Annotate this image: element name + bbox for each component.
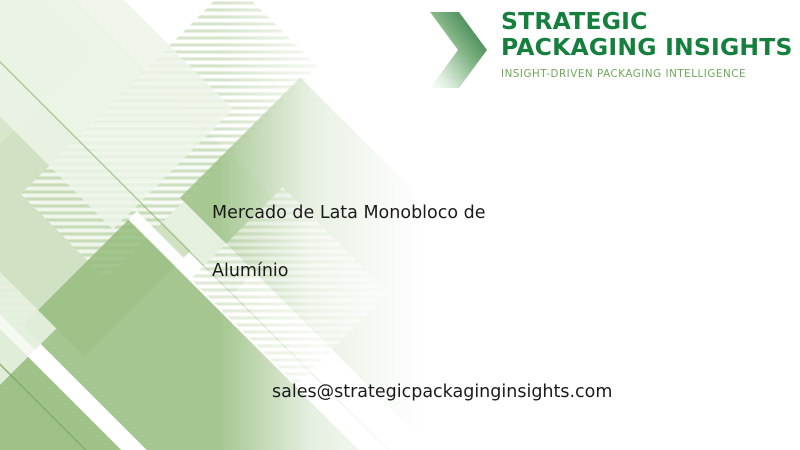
page-title-line-1: Mercado de Lata Monobloco de xyxy=(212,184,632,242)
logo-tagline: INSIGHT-DRIVEN PACKAGING INTELLIGENCE xyxy=(501,68,793,80)
page-title-line-2: Alumínio xyxy=(212,242,632,300)
contact-email[interactable]: sales@strategicpackaginginsights.com xyxy=(272,380,612,404)
chevron-arrow-mark xyxy=(428,10,490,90)
logo-wordmark: STRATEGIC PACKAGING INSIGHTS INSIGHT-DRI… xyxy=(501,8,793,80)
page-title: Mercado de Lata Monobloco de Alumínio xyxy=(212,184,632,300)
presentation-slide: STRATEGIC PACKAGING INSIGHTS INSIGHT-DRI… xyxy=(0,0,800,450)
logo-line-1: STRATEGIC xyxy=(501,8,793,34)
logo-line-2: PACKAGING INSIGHTS xyxy=(501,34,793,60)
company-logo: STRATEGIC PACKAGING INSIGHTS INSIGHT-DRI… xyxy=(428,8,793,90)
